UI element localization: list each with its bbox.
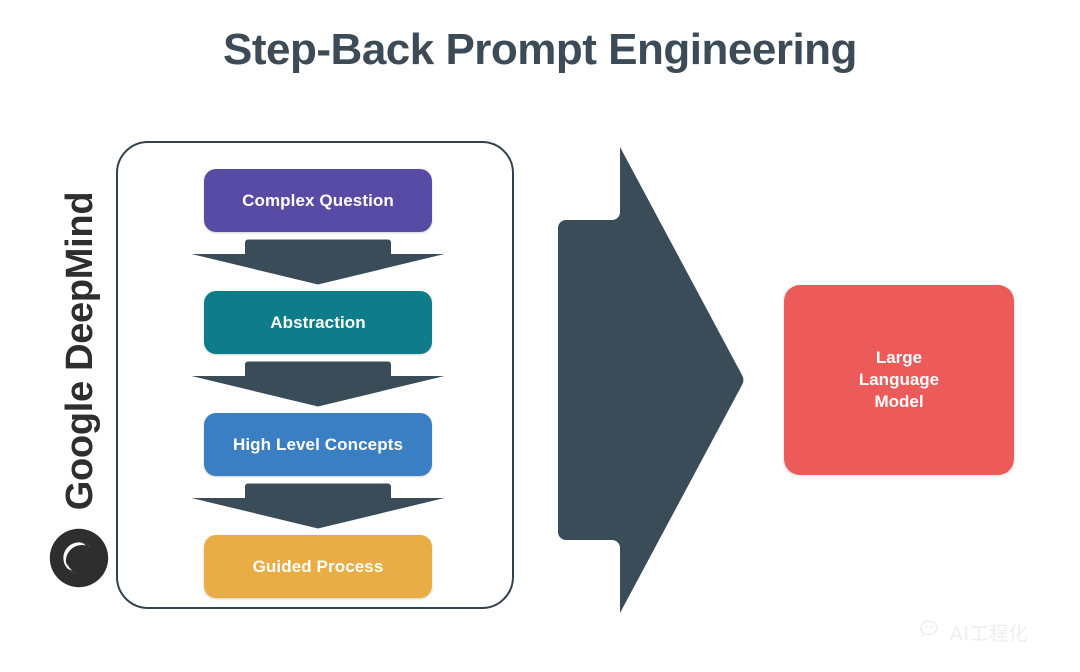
- flow-step-label: Abstraction: [270, 313, 366, 333]
- flow-step-label: Guided Process: [253, 557, 384, 577]
- flow-step-high-level-concepts[interactable]: High Level Concepts: [204, 413, 432, 476]
- slide-canvas: Step-Back Prompt Engineering Google Deep…: [0, 0, 1080, 672]
- page-title: Step-Back Prompt Engineering: [0, 20, 1080, 80]
- down-arrow-icon: [190, 238, 446, 286]
- output-llm-label: Large Language Model: [859, 347, 939, 413]
- wechat-icon: [919, 619, 945, 646]
- flow-step-label: High Level Concepts: [233, 435, 403, 455]
- down-arrow-icon: [190, 360, 446, 408]
- flow-step-abstraction[interactable]: Abstraction: [204, 291, 432, 354]
- output-llm-box[interactable]: Large Language Model: [784, 285, 1014, 475]
- brand-name-label: Google DeepMind: [47, 166, 113, 536]
- flow-step-guided-process[interactable]: Guided Process: [204, 535, 432, 598]
- deepmind-spiral-icon: [49, 528, 109, 588]
- brand-block: Google DeepMind: [47, 150, 113, 600]
- down-arrow-icon: [190, 482, 446, 530]
- flow-step-label: Complex Question: [242, 191, 394, 211]
- watermark: AI工程化: [919, 619, 1028, 646]
- flow-container: Complex Question Abstraction High Level …: [116, 141, 514, 609]
- flow-step-complex-question[interactable]: Complex Question: [204, 169, 432, 232]
- watermark-label: AI工程化: [950, 619, 1028, 646]
- right-arrow-icon: [556, 144, 746, 616]
